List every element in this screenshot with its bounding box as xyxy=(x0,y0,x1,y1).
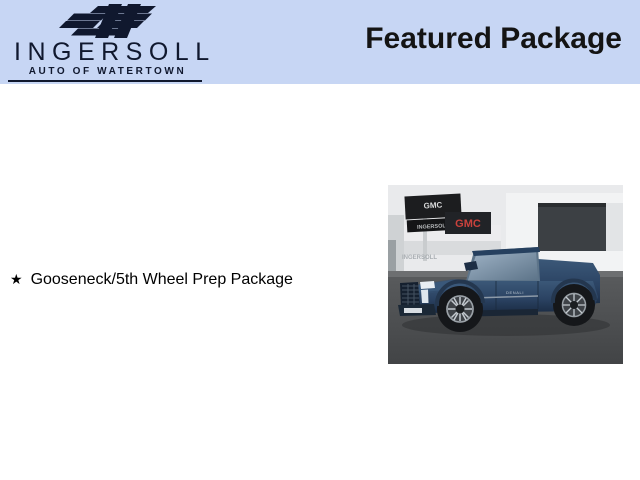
brand-wordmark: INGERSOLL xyxy=(8,39,204,65)
page-title: Featured Package xyxy=(365,22,622,56)
feature-label: Gooseneck/5th Wheel Prep Package xyxy=(31,269,293,291)
feature-list: ★ Gooseneck/5th Wheel Prep Package xyxy=(0,268,370,291)
content-area: ★ Gooseneck/5th Wheel Prep Package xyxy=(0,84,640,480)
svg-text:INGERSOLL: INGERSOLL xyxy=(402,255,437,261)
svg-text:DENALI: DENALI xyxy=(506,290,524,295)
ingersoll-winged-monogram-icon xyxy=(52,4,160,38)
brand-logo[interactable]: INGERSOLL AUTO OF WATERTOWN xyxy=(8,4,204,82)
vehicle-photo: GMC INGERSOLL GMC INGERSOLL xyxy=(388,185,623,364)
svg-text:GMC: GMC xyxy=(455,218,481,230)
svg-text:GMC: GMC xyxy=(423,201,442,211)
star-bullet-icon: ★ xyxy=(10,268,23,290)
gmc-sierra-denali-image: GMC INGERSOLL GMC INGERSOLL xyxy=(388,185,623,364)
brand-divider xyxy=(8,80,202,82)
page-header: INGERSOLL AUTO OF WATERTOWN Featured Pac… xyxy=(0,0,640,84)
brand-tagline: AUTO OF WATERTOWN xyxy=(8,66,204,78)
list-item: ★ Gooseneck/5th Wheel Prep Package xyxy=(0,268,370,291)
